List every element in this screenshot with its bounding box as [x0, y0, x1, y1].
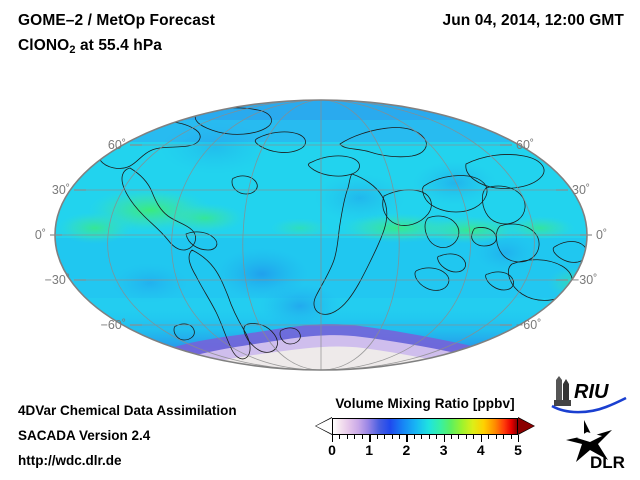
lat-label-right-30: 30˚	[572, 183, 590, 197]
colorbar-tick-label: 4	[477, 442, 485, 458]
lat-label-left-m30: −30˚	[45, 273, 70, 287]
lat-label-right-0: 0˚	[596, 228, 607, 242]
mollweide-map: 60˚ 30˚ 0˚ −30˚ −60˚ 60˚ 30˚ 0˚ −30˚ −60…	[0, 78, 640, 378]
map-panel: 60˚ 30˚ 0˚ −30˚ −60˚ 60˚ 30˚ 0˚ −30˚ −60…	[0, 78, 640, 378]
colorbar-minor-tick	[466, 435, 467, 439]
species-subscript: 2	[69, 44, 75, 56]
footer-line-url[interactable]: http://wdc.dlr.de	[18, 453, 122, 468]
colorbar-tick-label: 2	[402, 442, 410, 458]
lat-label-left-m60: −60˚	[101, 318, 126, 332]
colorbar-minor-tick	[347, 435, 348, 439]
colorbar-major-tick	[481, 435, 482, 442]
lat-label-right-m30: −30˚	[572, 273, 597, 287]
colorbar-tick-label: 5	[514, 442, 522, 458]
colorbar: Volume Mixing Ratio [ppbv] 012345	[316, 396, 534, 466]
colorbar-minor-tick	[414, 435, 415, 439]
dlr-logo-text: DLR	[590, 453, 625, 470]
colorbar-title: Volume Mixing Ratio [ppbv]	[316, 396, 534, 411]
colorbar-minor-tick	[421, 435, 422, 439]
colorbar-minor-tick	[377, 435, 378, 439]
colorbar-minor-tick	[339, 435, 340, 439]
riu-logo-text: RIU	[574, 381, 609, 403]
lat-label-left-30: 30˚	[52, 183, 70, 197]
species-level-label: ClONO2 at 55.4 hPa	[18, 37, 162, 55]
lat-label-right-m60: −60˚	[516, 318, 541, 332]
colorbar-major-tick	[518, 435, 519, 442]
pressure-level: at 55.4 hPa	[76, 37, 163, 54]
colorbar-minor-tick	[451, 435, 452, 439]
colorbar-minor-tick	[362, 435, 363, 439]
species-name: ClONO	[18, 37, 69, 54]
colorbar-major-tick	[406, 435, 407, 442]
lat-label-left-0: 0˚	[35, 228, 46, 242]
colorbar-tick-label: 1	[365, 442, 373, 458]
colorbar-tick-label: 0	[328, 442, 336, 458]
lat-label-left-60: 60˚	[108, 138, 126, 152]
footer-line-version: SACADA Version 2.4	[18, 428, 150, 443]
colorbar-minor-tick	[496, 435, 497, 439]
colorbar-gradient-box	[332, 418, 518, 435]
colorbar-minor-tick	[429, 435, 430, 439]
colorbar-minor-tick	[354, 435, 355, 439]
colorbar-gradient	[332, 418, 518, 435]
colorbar-major-tick	[332, 435, 333, 442]
colorbar-tick-labels: 012345	[316, 442, 534, 462]
dlr-logo: DLR	[566, 420, 625, 470]
colorbar-major-tick	[369, 435, 370, 442]
colorbar-minor-tick	[473, 435, 474, 439]
footer-line-method: 4DVar Chemical Data Assimilation	[18, 403, 237, 418]
page-title: GOME–2 / MetOp Forecast	[18, 12, 215, 30]
colorbar-minor-tick	[511, 435, 512, 439]
colorbar-minor-tick	[392, 435, 393, 439]
colorbar-minor-tick	[384, 435, 385, 439]
colorbar-minor-tick	[436, 435, 437, 439]
colorbar-minor-tick	[488, 435, 489, 439]
colorbar-right-arrow	[518, 418, 534, 434]
colorbar-minor-tick	[503, 435, 504, 439]
riu-logo: RIU	[552, 376, 626, 412]
lat-label-right-60: 60˚	[516, 138, 534, 152]
timestamp: Jun 04, 2014, 12:00 GMT	[443, 12, 625, 30]
colorbar-left-arrow	[316, 418, 332, 434]
colorbar-minor-tick	[458, 435, 459, 439]
colorbar-tick-label: 3	[440, 442, 448, 458]
colorbar-minor-tick	[399, 435, 400, 439]
logo-group: RIU DLR	[546, 374, 632, 470]
colorbar-major-tick	[444, 435, 445, 442]
